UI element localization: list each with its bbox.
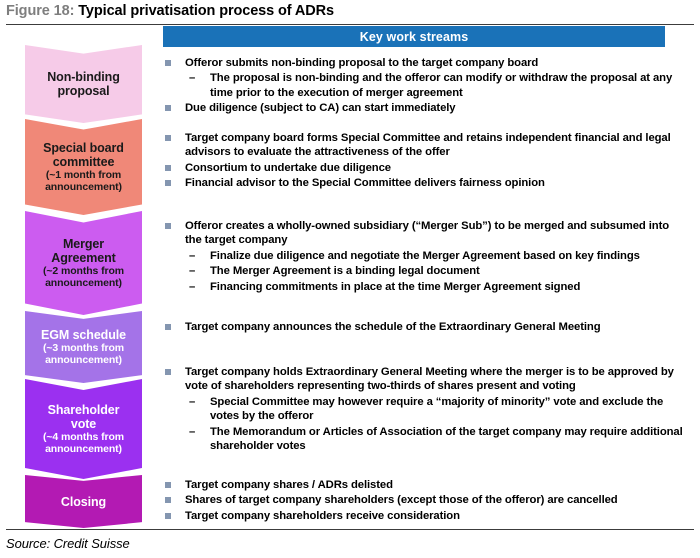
dash-bullet-icon: – <box>189 280 195 294</box>
work-stream-sub-bullet: –Special Committee may however require a… <box>163 395 683 424</box>
work-stream-bullet: Consortium to undertake due diligence <box>163 161 683 175</box>
work-stream-sub-bullet: –The proposal is non-binding and the off… <box>163 71 683 100</box>
work-stream-bullet: Target company board forms Special Commi… <box>163 131 683 160</box>
process-stage-special-board-committee: Special boardcommittee(~1 month fromanno… <box>25 119 142 215</box>
square-bullet-icon <box>165 105 171 111</box>
stage-title-line: Shareholder <box>48 403 120 417</box>
square-bullet-icon <box>165 497 171 503</box>
process-stage-closing: Closing <box>25 475 142 528</box>
work-stream-sub-bullet: –Finalize due diligence and negotiate th… <box>163 249 683 263</box>
dash-bullet-icon: – <box>189 264 195 278</box>
square-bullet-icon <box>165 135 171 141</box>
process-stage-column: Non-bindingproposalSpecial boardcommitte… <box>25 45 142 528</box>
stage-subtitle-line: (~1 month from <box>46 169 121 181</box>
process-stage-shareholder-vote: Shareholdervote(~4 months fromannounceme… <box>25 379 142 479</box>
work-stream-bullet: Offeror creates a wholly-owned subsidiar… <box>163 219 683 248</box>
process-stage-merger-agreement: MergerAgreement(~2 months fromannounceme… <box>25 211 142 315</box>
stage-subtitle-line: announcement) <box>45 277 122 289</box>
work-stream-text: Finalize due diligence and negotiate the… <box>210 250 640 262</box>
page-title: Figure 18: Typical privatisation process… <box>6 3 694 19</box>
work-stream-text: Target company shareholders receive cons… <box>185 510 460 522</box>
square-bullet-icon <box>165 369 171 375</box>
work-stream-text: Due diligence (subject to CA) can start … <box>185 102 455 114</box>
work-stream-text: Financial advisor to the Special Committ… <box>185 177 545 189</box>
work-stream-text: Offeror creates a wholly-owned subsidiar… <box>185 220 669 246</box>
work-stream-bullet: Target company announces the schedule of… <box>163 320 683 334</box>
stage-title-line: committee <box>53 155 115 169</box>
work-stream-sub-bullet: –Financing commitments in place at the t… <box>163 280 683 294</box>
work-stream-sub-bullet: –The Merger Agreement is a binding legal… <box>163 264 683 278</box>
process-stage-non-binding-proposal: Non-bindingproposal <box>25 45 142 123</box>
square-bullet-icon <box>165 180 171 186</box>
square-bullet-icon <box>165 482 171 488</box>
title-divider <box>6 24 694 25</box>
stage-title-line: Non-binding <box>47 70 119 84</box>
work-stream-text: Target company holds Extraordinary Gener… <box>185 366 674 392</box>
key-work-streams-label: Key work streams <box>360 30 469 44</box>
stream-egm-schedule: Target company announces the schedule of… <box>163 320 683 335</box>
work-stream-text: Target company announces the schedule of… <box>185 321 601 333</box>
stage-subtitle-line: announcement) <box>45 181 122 193</box>
work-stream-bullet: Target company shareholders receive cons… <box>163 509 683 523</box>
work-stream-sub-bullet: –The Memorandum or Articles of Associati… <box>163 425 683 454</box>
square-bullet-icon <box>165 513 171 519</box>
square-bullet-icon <box>165 223 171 229</box>
square-bullet-icon <box>165 324 171 330</box>
stream-closing: Target company shares / ADRs delistedSha… <box>163 478 683 524</box>
dash-bullet-icon: – <box>189 71 195 85</box>
stage-subtitle-line: announcement) <box>45 443 122 455</box>
work-stream-bullet: Offeror submits non-binding proposal to … <box>163 56 683 70</box>
dash-bullet-icon: – <box>189 395 195 409</box>
dash-bullet-icon: – <box>189 249 195 263</box>
process-stage-egm-schedule: EGM schedule(~3 months fromannouncement) <box>25 311 142 383</box>
work-stream-text: Special Committee may however require a … <box>210 396 663 422</box>
work-stream-text: Target company shares / ADRs delisted <box>185 479 393 491</box>
key-work-streams-header: Key work streams <box>163 26 665 47</box>
stage-title-line: Special board <box>43 141 124 155</box>
work-stream-text: Financing commitments in place at the ti… <box>210 281 580 293</box>
stage-title-line: Merger <box>63 237 104 251</box>
stream-shareholder-vote: Target company holds Extraordinary Gener… <box>163 365 683 454</box>
stage-title-line: Closing <box>61 495 106 509</box>
stage-subtitle-line: (~4 months from <box>43 431 124 443</box>
work-stream-text: Shares of target company shareholders (e… <box>185 494 618 506</box>
work-stream-bullet: Target company holds Extraordinary Gener… <box>163 365 683 394</box>
work-stream-bullet: Due diligence (subject to CA) can start … <box>163 101 683 115</box>
stream-merger-agreement: Offeror creates a wholly-owned subsidiar… <box>163 219 683 295</box>
work-stream-bullet: Financial advisor to the Special Committ… <box>163 176 683 190</box>
stage-subtitle-line: (~3 months from <box>43 342 124 354</box>
work-stream-bullet: Shares of target company shareholders (e… <box>163 493 683 507</box>
stream-special-board-committee: Target company board forms Special Commi… <box>163 131 683 192</box>
work-stream-text: Target company board forms Special Commi… <box>185 132 671 158</box>
stream-non-binding-proposal: Offeror submits non-binding proposal to … <box>163 56 683 117</box>
stage-title-line: vote <box>71 417 96 431</box>
figure-title-text: Typical privatisation process of ADRs <box>78 3 334 19</box>
stage-subtitle-line: announcement) <box>45 354 122 366</box>
stage-subtitle-line: (~2 months from <box>43 265 124 277</box>
work-stream-text: The Merger Agreement is a binding legal … <box>210 265 480 277</box>
stage-title-line: Agreement <box>51 251 115 265</box>
source-divider <box>6 529 694 530</box>
square-bullet-icon <box>165 165 171 171</box>
stage-title-line: proposal <box>58 84 110 98</box>
work-stream-text: The proposal is non-binding and the offe… <box>210 72 672 98</box>
work-stream-text: The Memorandum or Articles of Associatio… <box>210 426 683 452</box>
source-note: Source: Credit Suisse <box>6 536 130 551</box>
stage-title-line: EGM schedule <box>41 328 126 342</box>
work-stream-bullet: Target company shares / ADRs delisted <box>163 478 683 492</box>
figure-number: Figure 18: <box>6 3 74 19</box>
work-stream-text: Offeror submits non-binding proposal to … <box>185 57 538 69</box>
square-bullet-icon <box>165 60 171 66</box>
work-stream-text: Consortium to undertake due diligence <box>185 162 391 174</box>
dash-bullet-icon: – <box>189 425 195 439</box>
